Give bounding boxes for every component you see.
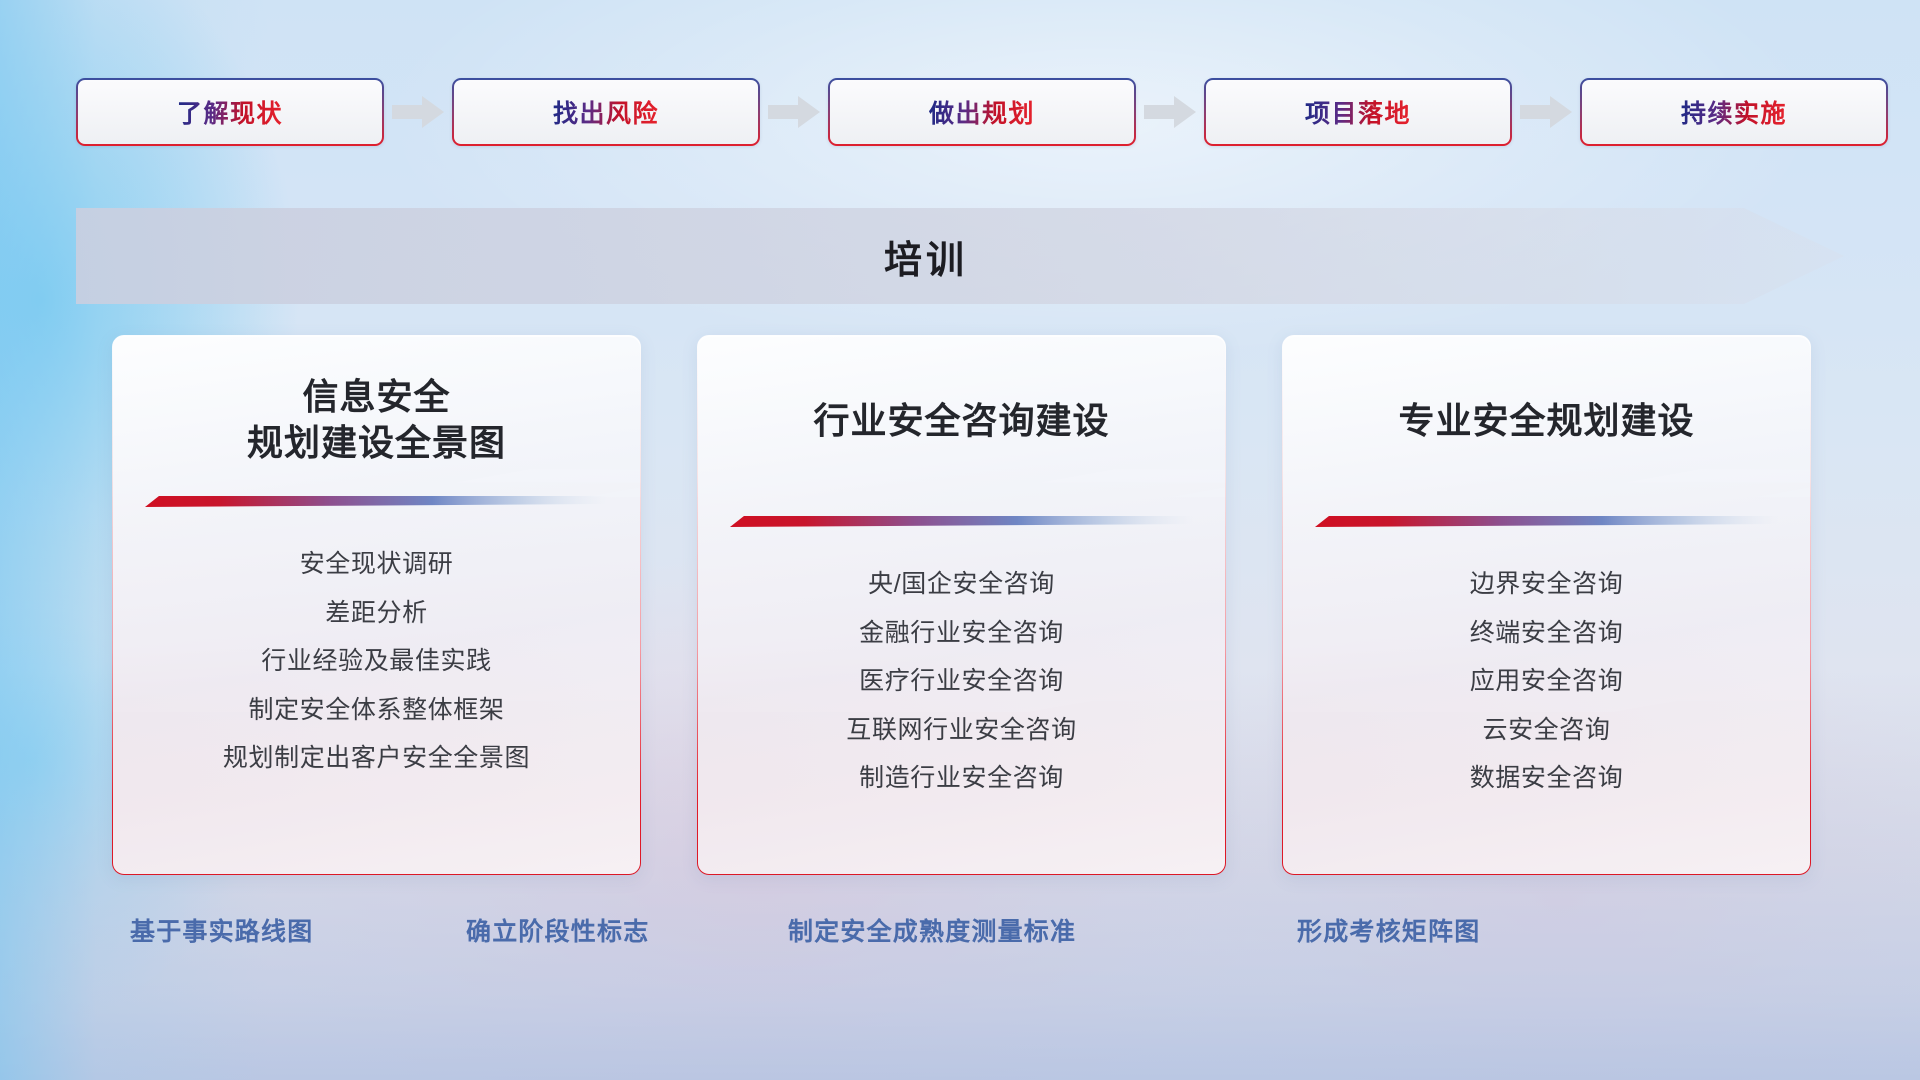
flow-step-4-inner: 项目落地 xyxy=(1206,80,1510,144)
service-cards-row: 信息安全 规划建设全景图 xyxy=(112,335,1812,875)
service-card-3-title-line1: 专业安全规划建设 xyxy=(1398,398,1694,444)
flow-step-5-inner: 持续实施 xyxy=(1582,80,1886,144)
service-card-2-title-line1: 行业安全咨询建设 xyxy=(813,398,1109,444)
list-item: 行业经验及最佳实践 xyxy=(261,641,491,683)
list-item: 云安全咨询 xyxy=(1482,710,1610,752)
flow-step-5-label: 持续实施 xyxy=(1681,94,1787,130)
divider-gradient-icon xyxy=(145,496,608,507)
service-card-1-title: 信息安全 规划建设全景图 xyxy=(231,374,522,466)
flow-arrow-icon-4 xyxy=(1518,95,1574,129)
flow-arrow-icon-1 xyxy=(390,95,446,129)
list-item: 央/国企安全咨询 xyxy=(868,564,1055,606)
caption-3: 制定安全成熟度测量标准 xyxy=(788,912,1076,948)
list-item: 安全现状调研 xyxy=(300,544,454,586)
list-item: 金融行业安全咨询 xyxy=(859,613,1064,655)
flow-arrow-icon-3 xyxy=(1142,95,1198,129)
flow-step-1-inner: 了解现状 xyxy=(78,80,382,144)
training-banner: 培训 xyxy=(76,208,1844,304)
service-card-3-title: 专业安全规划建设 xyxy=(1382,398,1710,444)
list-item: 制造行业安全咨询 xyxy=(859,758,1064,800)
service-card-3-divider-wrap xyxy=(1283,516,1810,528)
flow-step-1[interactable]: 了解现状 xyxy=(76,78,384,146)
flow-step-3-inner: 做出规划 xyxy=(830,80,1134,144)
flow-step-1-label: 了解现状 xyxy=(177,94,283,130)
list-item: 差距分析 xyxy=(325,593,427,635)
flow-step-3[interactable]: 做出规划 xyxy=(828,78,1136,146)
flow-step-3-label: 做出规划 xyxy=(929,94,1035,130)
service-card-1-list: 安全现状调研 差距分析 行业经验及最佳实践 制定安全体系整体框架 规划制定出客户… xyxy=(113,544,640,780)
service-card-3-list: 边界安全咨询 终端安全咨询 应用安全咨询 云安全咨询 数据安全咨询 xyxy=(1283,564,1810,800)
flow-step-2-inner: 找出风险 xyxy=(454,80,758,144)
service-card-3-divider xyxy=(1315,516,1778,527)
service-card-1[interactable]: 信息安全 规划建设全景图 xyxy=(112,335,641,875)
flow-step-4-label: 项目落地 xyxy=(1305,94,1411,130)
list-item: 应用安全咨询 xyxy=(1470,661,1624,703)
service-card-1-title-line2: 规划建设全景图 xyxy=(247,420,506,466)
flow-arrow-icon-2 xyxy=(766,95,822,129)
service-card-1-divider xyxy=(145,496,608,507)
list-item: 终端安全咨询 xyxy=(1470,613,1624,655)
service-card-3[interactable]: 专业安全规划建设 xyxy=(1282,335,1811,875)
caption-1: 基于事实路线图 xyxy=(130,912,313,948)
list-item: 制定安全体系整体框架 xyxy=(248,690,504,732)
divider-gradient-icon xyxy=(1315,516,1778,527)
process-flow-row: 了解现状 找出风险 做出规划 项目落地 xyxy=(76,78,1844,146)
service-card-1-divider-wrap xyxy=(113,496,640,508)
caption-2: 确立阶段性标志 xyxy=(466,912,649,948)
service-card-2-divider xyxy=(730,516,1193,527)
bottom-captions-row: 基于事实路线图 确立阶段性标志 制定安全成熟度测量标准 形成考核矩阵图 xyxy=(0,912,1920,960)
caption-4: 形成考核矩阵图 xyxy=(1297,912,1480,948)
service-card-2-list: 央/国企安全咨询 金融行业安全咨询 医疗行业安全咨询 互联网行业安全咨询 制造行… xyxy=(698,564,1225,800)
list-item: 边界安全咨询 xyxy=(1470,564,1624,606)
list-item: 互联网行业安全咨询 xyxy=(846,710,1076,752)
flow-step-4[interactable]: 项目落地 xyxy=(1204,78,1512,146)
flow-step-2-label: 找出风险 xyxy=(553,94,659,130)
slide-canvas: 了解现状 找出风险 做出规划 项目落地 xyxy=(0,0,1920,1080)
list-item: 医疗行业安全咨询 xyxy=(859,661,1064,703)
list-item: 数据安全咨询 xyxy=(1470,758,1624,800)
training-banner-label: 培训 xyxy=(76,208,1776,304)
service-card-2[interactable]: 行业安全咨询建设 xyxy=(697,335,1226,875)
flow-step-5[interactable]: 持续实施 xyxy=(1580,78,1888,146)
divider-gradient-icon xyxy=(730,516,1193,527)
service-card-1-title-line1: 信息安全 xyxy=(247,374,506,420)
service-card-2-title: 行业安全咨询建设 xyxy=(797,398,1125,444)
flow-step-2[interactable]: 找出风险 xyxy=(452,78,760,146)
service-card-2-divider-wrap xyxy=(698,516,1225,528)
list-item: 规划制定出客户安全全景图 xyxy=(223,738,530,780)
